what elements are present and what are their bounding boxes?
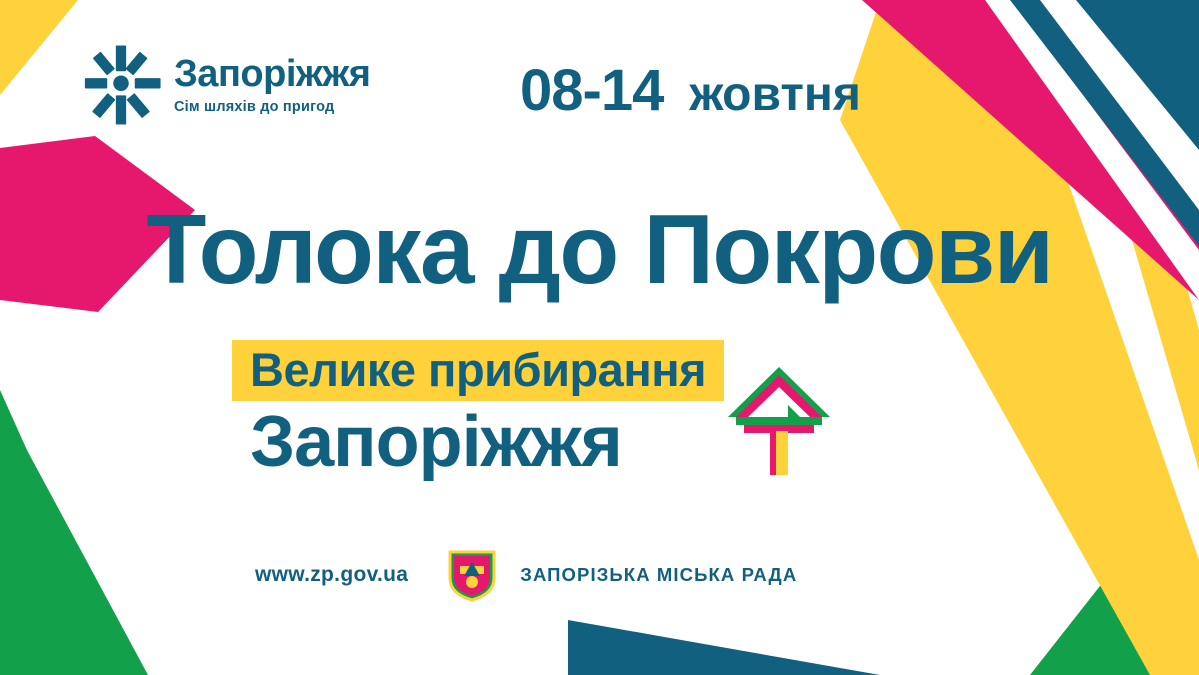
house-icon bbox=[726, 365, 832, 475]
event-date: 08-14 жовтня bbox=[520, 62, 861, 120]
date-month: жовтня bbox=[689, 71, 861, 119]
shape-green-left-b bbox=[0, 400, 148, 675]
website-url[interactable]: www.zp.gov.ua bbox=[255, 563, 408, 587]
page-title: Толока до Покрови bbox=[0, 200, 1199, 298]
zaporizhzhia-star-logo-icon bbox=[78, 42, 164, 128]
council-name: ЗАПОРІЗЬКА МІСЬКА РАДА bbox=[520, 564, 797, 586]
subtitle-line-1: Велике прибирання bbox=[250, 343, 706, 396]
shape-yellow-topleft bbox=[0, 0, 78, 95]
subtitle-highlight: Велике прибирання bbox=[232, 340, 724, 401]
date-range: 08-14 bbox=[520, 62, 663, 120]
footer: www.zp.gov.ua ЗАПОРІЗЬКА МІСЬКА РАДА bbox=[255, 548, 797, 602]
brand-logo: Запоріжжя Сім шляхів до пригод bbox=[78, 42, 370, 128]
poster-canvas: Запоріжжя Сім шляхів до пригод 08-14 жов… bbox=[0, 0, 1199, 675]
zaporizhzhia-coat-of-arms-icon bbox=[446, 548, 498, 602]
logo-title: Запоріжжя bbox=[174, 55, 370, 93]
logo-subtitle: Сім шляхів до пригод bbox=[174, 100, 370, 115]
shape-teal-bottom bbox=[568, 620, 880, 675]
